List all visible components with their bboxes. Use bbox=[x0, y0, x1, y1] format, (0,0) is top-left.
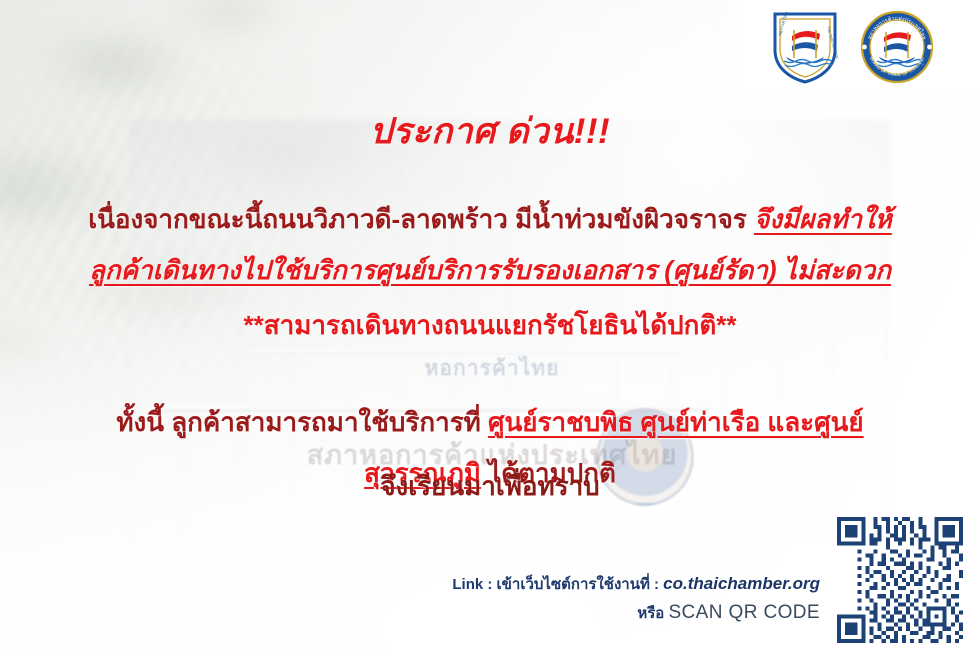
body-line-1-text: เนื่องจากขณะนี้ถนนวิภาวดี-ลาดพร้าว มีน้ำ… bbox=[88, 204, 754, 234]
body-line-2: ลูกค้าเดินทางไปใช้บริการศูนย์บริการรับรอ… bbox=[0, 247, 980, 298]
footer-url[interactable]: co.thaichamber.org bbox=[663, 574, 820, 593]
announcement-poster: หอการค้าไทย สภาหอการค้าแห่งประเทศไทย หอก… bbox=[0, 0, 980, 655]
qr-code[interactable] bbox=[833, 513, 967, 647]
footer-or-label: หรือ bbox=[637, 605, 668, 622]
board-of-trade-of-thailand-circle-icon: สภาหอการค้าแห่งประเทศไทย BOARD OF TRADE … bbox=[860, 10, 934, 84]
poster-footer: Link : เข้าเว็บไซต์การใช้งานที่ : co.tha… bbox=[380, 572, 820, 625]
logo-panel: หอการค้าไทย THE THAI CHAMBER bbox=[742, 0, 980, 92]
body-line-1-emphasis: จึงมีผลทำให้ bbox=[754, 204, 892, 234]
body-line-3-note: **สามารถเดินทางถนนแยกรัชโยธินได้ปกติ** bbox=[0, 302, 980, 353]
poster-body: เนื่องจากขณะนี้ถนนวิภาวดี-ลาดพร้าว มีน้ำ… bbox=[0, 196, 980, 501]
footer-scan-line: หรือ SCAN QR CODE bbox=[380, 601, 820, 625]
footer-link-line: Link : เข้าเว็บไซต์การใช้งานที่ : co.tha… bbox=[380, 572, 820, 596]
body-line-2-emphasis: ลูกค้าเดินทางไปใช้บริการศูนย์บริการรับรอ… bbox=[89, 255, 891, 285]
body-line-4-text: ทั้งนี้ ลูกค้าสามารถมาใช้บริการที่ bbox=[116, 407, 488, 437]
body-line-1: เนื่องจากขณะนี้ถนนวิภาวดี-ลาดพร้าว มีน้ำ… bbox=[0, 196, 980, 247]
thai-chamber-of-commerce-shield-icon: หอการค้าไทย THE THAI CHAMBER bbox=[770, 10, 840, 84]
body-line-4: ทั้งนี้ ลูกค้าสามารถมาใช้บริการที่ ศูนย์… bbox=[0, 399, 980, 450]
poster-closing-line: จึงเรียนมาเพื่อทราบ bbox=[0, 466, 980, 507]
footer-link-label: Link : เข้าเว็บไซต์การใช้งานที่ : bbox=[452, 576, 663, 593]
footer-scan-label: SCAN QR CODE bbox=[668, 602, 820, 623]
body-line-4-emphasis: ศูนย์ราชบพิธ ศูนย์ท่าเรือ และศูนย์ bbox=[488, 407, 864, 437]
poster-headline: ประกาศ ด่วน!!! bbox=[0, 104, 980, 159]
body-line-3-text: **สามารถเดินทางถนนแยกรัชโยธินได้ปกติ** bbox=[244, 310, 737, 340]
